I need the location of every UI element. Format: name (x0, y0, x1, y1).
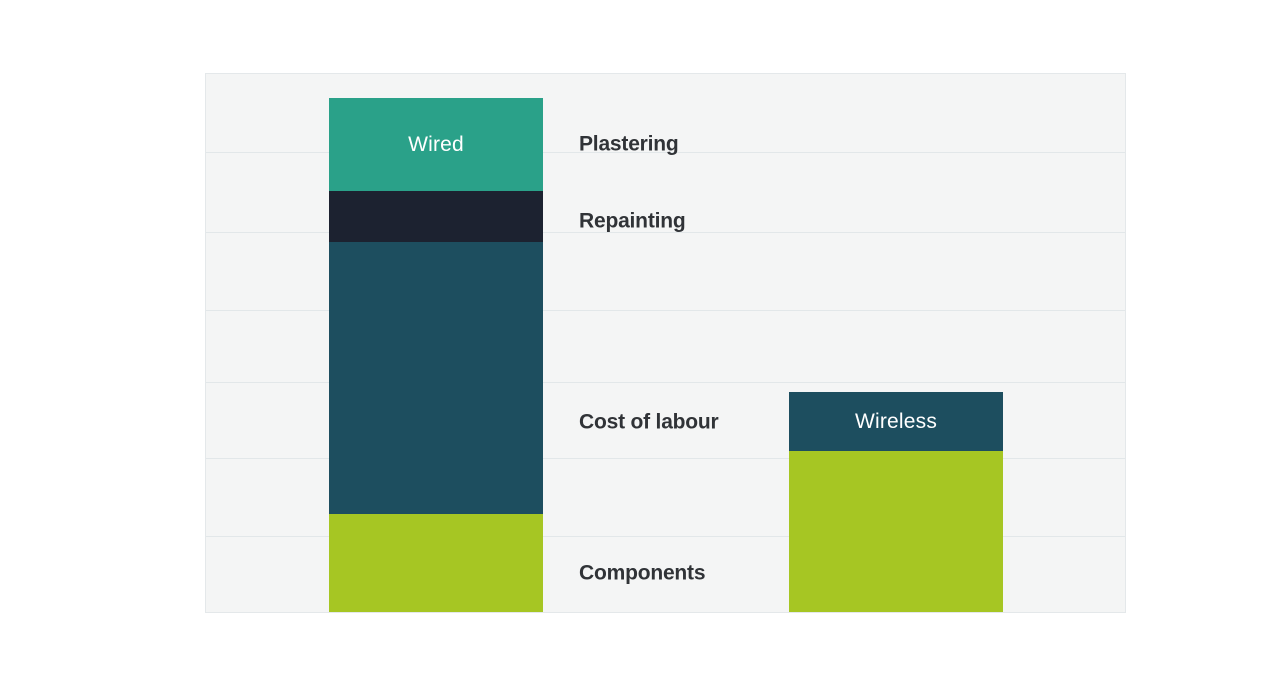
bar-segment-wireless-cost-of-labour[interactable]: Wireless (789, 392, 1003, 451)
bar-segment-wired-plastering[interactable]: Wired (329, 98, 543, 191)
bar-wired[interactable]: Wired (329, 98, 543, 612)
bar-label-wireless: Wireless (855, 411, 937, 432)
category-label-cost-of-labour: Cost of labour (579, 412, 719, 433)
category-label-repainting: Repainting (579, 211, 686, 232)
bar-segment-wired-cost-of-labour[interactable] (329, 242, 543, 514)
bar-segment-wired-components[interactable] (329, 514, 543, 612)
bar-wireless[interactable]: Wireless (789, 392, 1003, 612)
chart-root: Wired Wireless Plastering Repainting Cos… (0, 0, 1280, 678)
bar-label-wired: Wired (408, 134, 464, 155)
category-label-plastering: Plastering (579, 134, 679, 155)
bar-segment-wireless-components[interactable] (789, 451, 1003, 612)
bar-segment-wired-repainting[interactable] (329, 191, 543, 242)
category-label-components: Components (579, 563, 705, 584)
plot-area: Wired Wireless Plastering Repainting Cos… (205, 73, 1126, 613)
